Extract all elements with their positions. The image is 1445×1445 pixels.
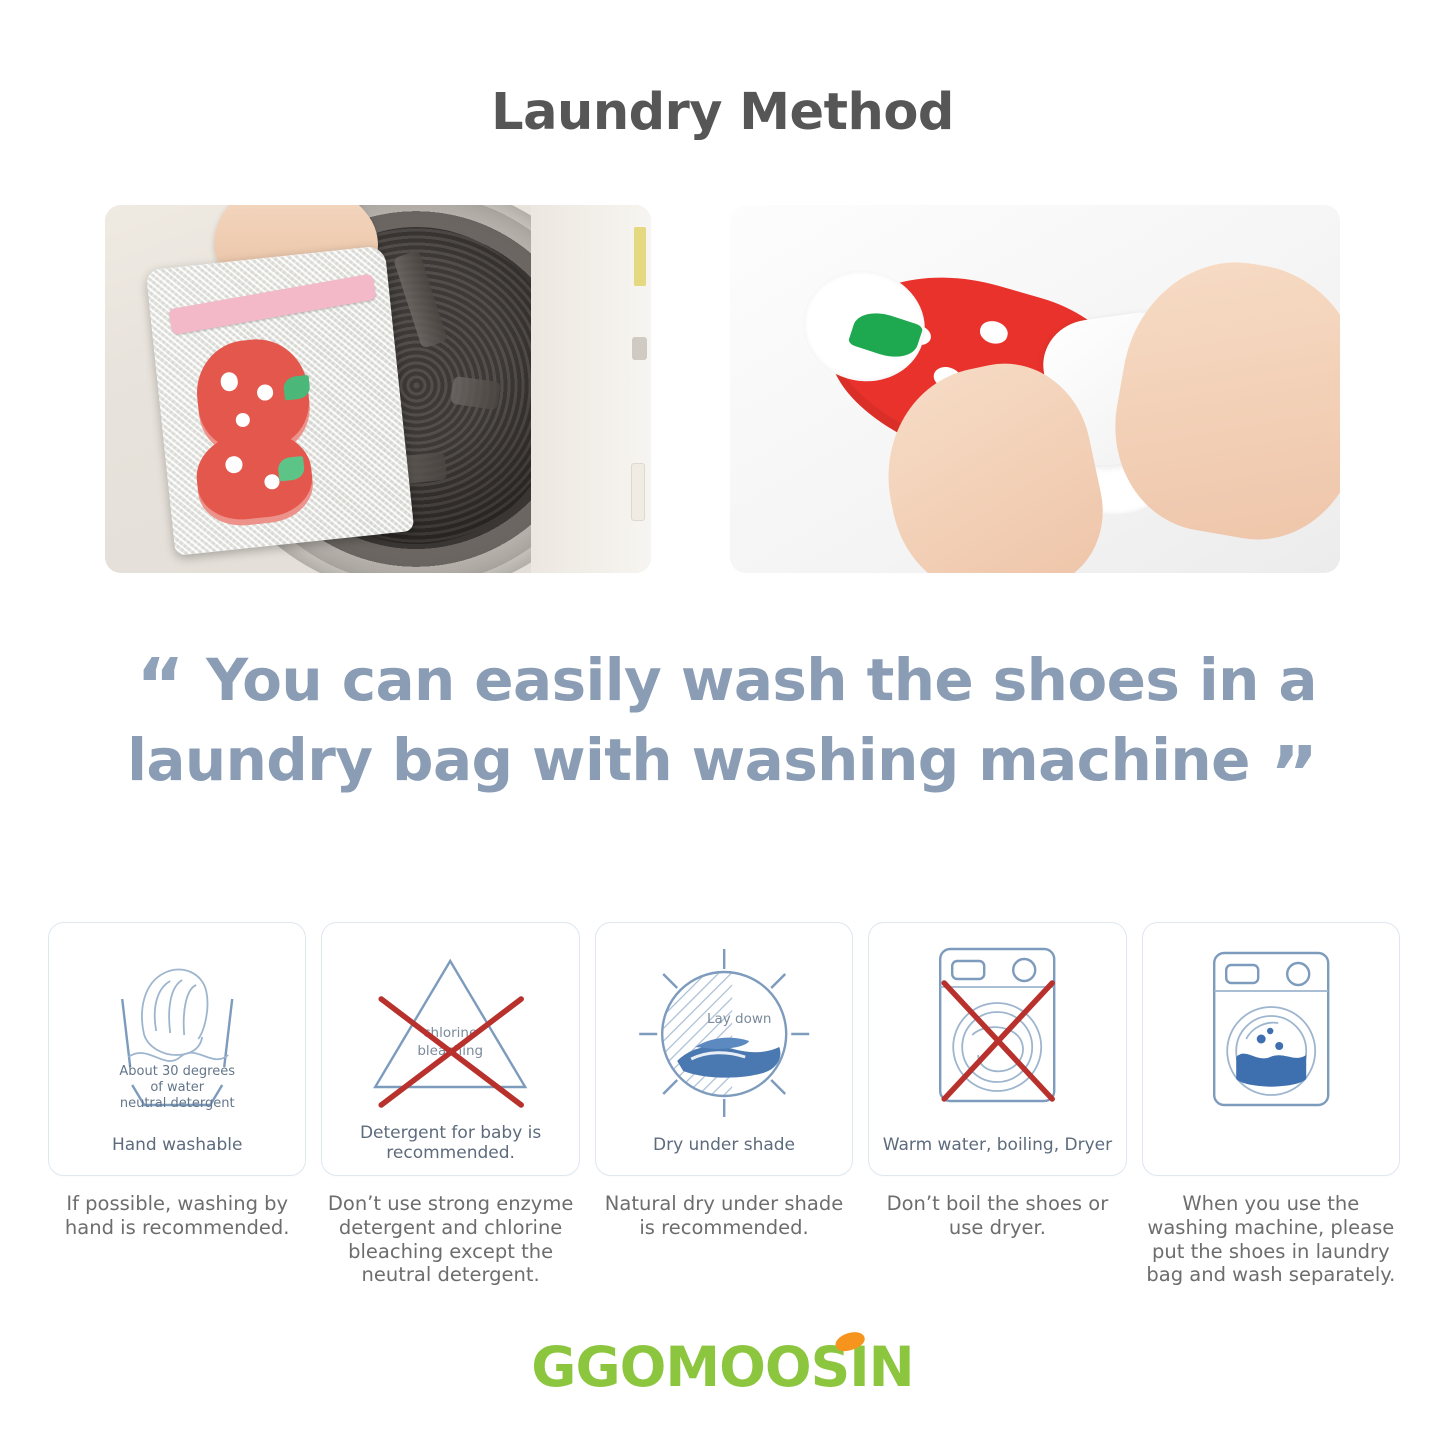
- icon-text-line-2: of water: [150, 1080, 204, 1095]
- card-label: Hand washable: [55, 1135, 299, 1155]
- icon-text-line-1: About 30 degrees: [119, 1064, 235, 1079]
- card-label: Dry under shade: [602, 1135, 846, 1155]
- hand-wiping-shoe-photo: [730, 205, 1340, 573]
- care-captions: If possible, washing by hand is recommen…: [48, 1192, 1400, 1287]
- washing-machine-laundry-bag-photo: [105, 205, 651, 573]
- no-dryer-washing-machine-icon: [869, 939, 1125, 1119]
- quote-block: “ You can easily wash the shoes in a lau…: [0, 640, 1445, 800]
- quote-open-icon: “: [136, 649, 184, 723]
- bag-zipper: [168, 273, 376, 334]
- caption-dry-shade: Natural dry under shade is recommended.: [595, 1192, 853, 1287]
- photo-row: [0, 205, 1445, 573]
- caption-no-bleach: Don’t use strong enzyme detergent and ch…: [321, 1192, 579, 1287]
- quote-line-1: You can easily wash the shoes in a: [206, 640, 1317, 720]
- hand-wash-basin-icon: About 30 degrees of water neutral deterg…: [49, 939, 305, 1119]
- care-card-hand-washable: About 30 degrees of water neutral deterg…: [48, 922, 306, 1176]
- icon-text-line-1: Lay down: [707, 1011, 772, 1027]
- card-label: Detergent for baby is recommended.: [328, 1123, 572, 1163]
- washer-body: [531, 205, 651, 573]
- no-chlorine-bleach-triangle-icon: chlorine bleaching: [322, 939, 578, 1119]
- caption-hand-wash: If possible, washing by hand is recommen…: [48, 1192, 306, 1287]
- brand-logo: GGOMOOSIN: [0, 1335, 1445, 1405]
- washing-machine-with-water-icon: [1143, 939, 1399, 1119]
- care-card-machine-wash: [1142, 922, 1400, 1176]
- caption-machine-wash: When you use the washing machine, please…: [1142, 1192, 1400, 1287]
- dry-in-shade-lay-flat-icon: Lay down: [596, 939, 852, 1119]
- quote-line-2: laundry bag with washing machine: [127, 720, 1250, 800]
- mesh-laundry-bag: [145, 245, 414, 556]
- care-symbol-cards: About 30 degrees of water neutral deterg…: [48, 922, 1400, 1176]
- laundry-method-page: Laundry Method: [0, 0, 1445, 1445]
- quote-close-icon: ”: [1270, 737, 1318, 811]
- icon-text-line-3: neutral detergent: [120, 1096, 235, 1111]
- page-title: Laundry Method: [0, 83, 1445, 142]
- care-card-no-dryer: Warm water, boiling, Dryer: [868, 922, 1126, 1176]
- care-card-dry-under-shade: Lay down Dry under shade: [595, 922, 853, 1176]
- care-card-no-chlorine-bleach: chlorine bleaching Detergent for baby is…: [321, 922, 579, 1176]
- card-label: Warm water, boiling, Dryer: [875, 1135, 1119, 1155]
- caption-no-dryer: Don’t boil the shoes or use dryer.: [868, 1192, 1126, 1287]
